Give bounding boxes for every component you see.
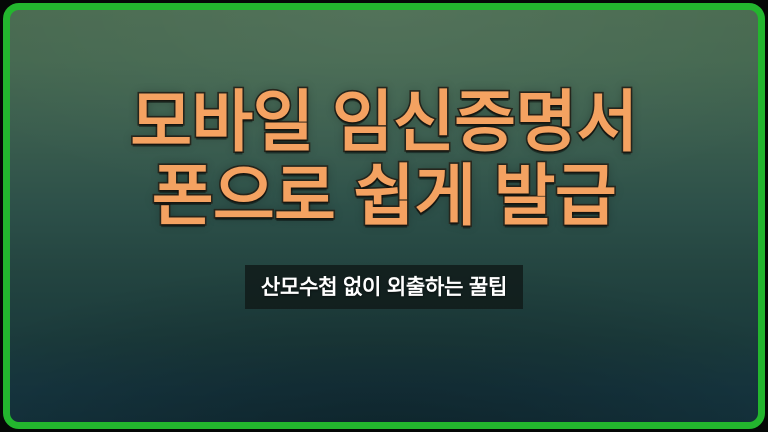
subtitle-block: 산모수첩 없이 외출하는 꿀팁 — [245, 265, 523, 309]
thumbnail-card: 모바일 임신증명서 폰으로 쉽게 발급 산모수첩 없이 외출하는 꿀팁 — [0, 0, 768, 432]
headline-line-1: 모바일 임신증명서 — [130, 90, 637, 156]
subtitle-text: 산모수첩 없이 외출하는 꿀팁 — [245, 265, 523, 309]
card-content: 모바일 임신증명서 폰으로 쉽게 발급 산모수첩 없이 외출하는 꿀팁 — [10, 10, 758, 422]
headline-block: 모바일 임신증명서 폰으로 쉽게 발급 — [130, 90, 637, 229]
headline-line-2: 폰으로 쉽게 발급 — [130, 164, 637, 230]
bordered-frame: 모바일 임신증명서 폰으로 쉽게 발급 산모수첩 없이 외출하는 꿀팁 — [3, 3, 765, 429]
